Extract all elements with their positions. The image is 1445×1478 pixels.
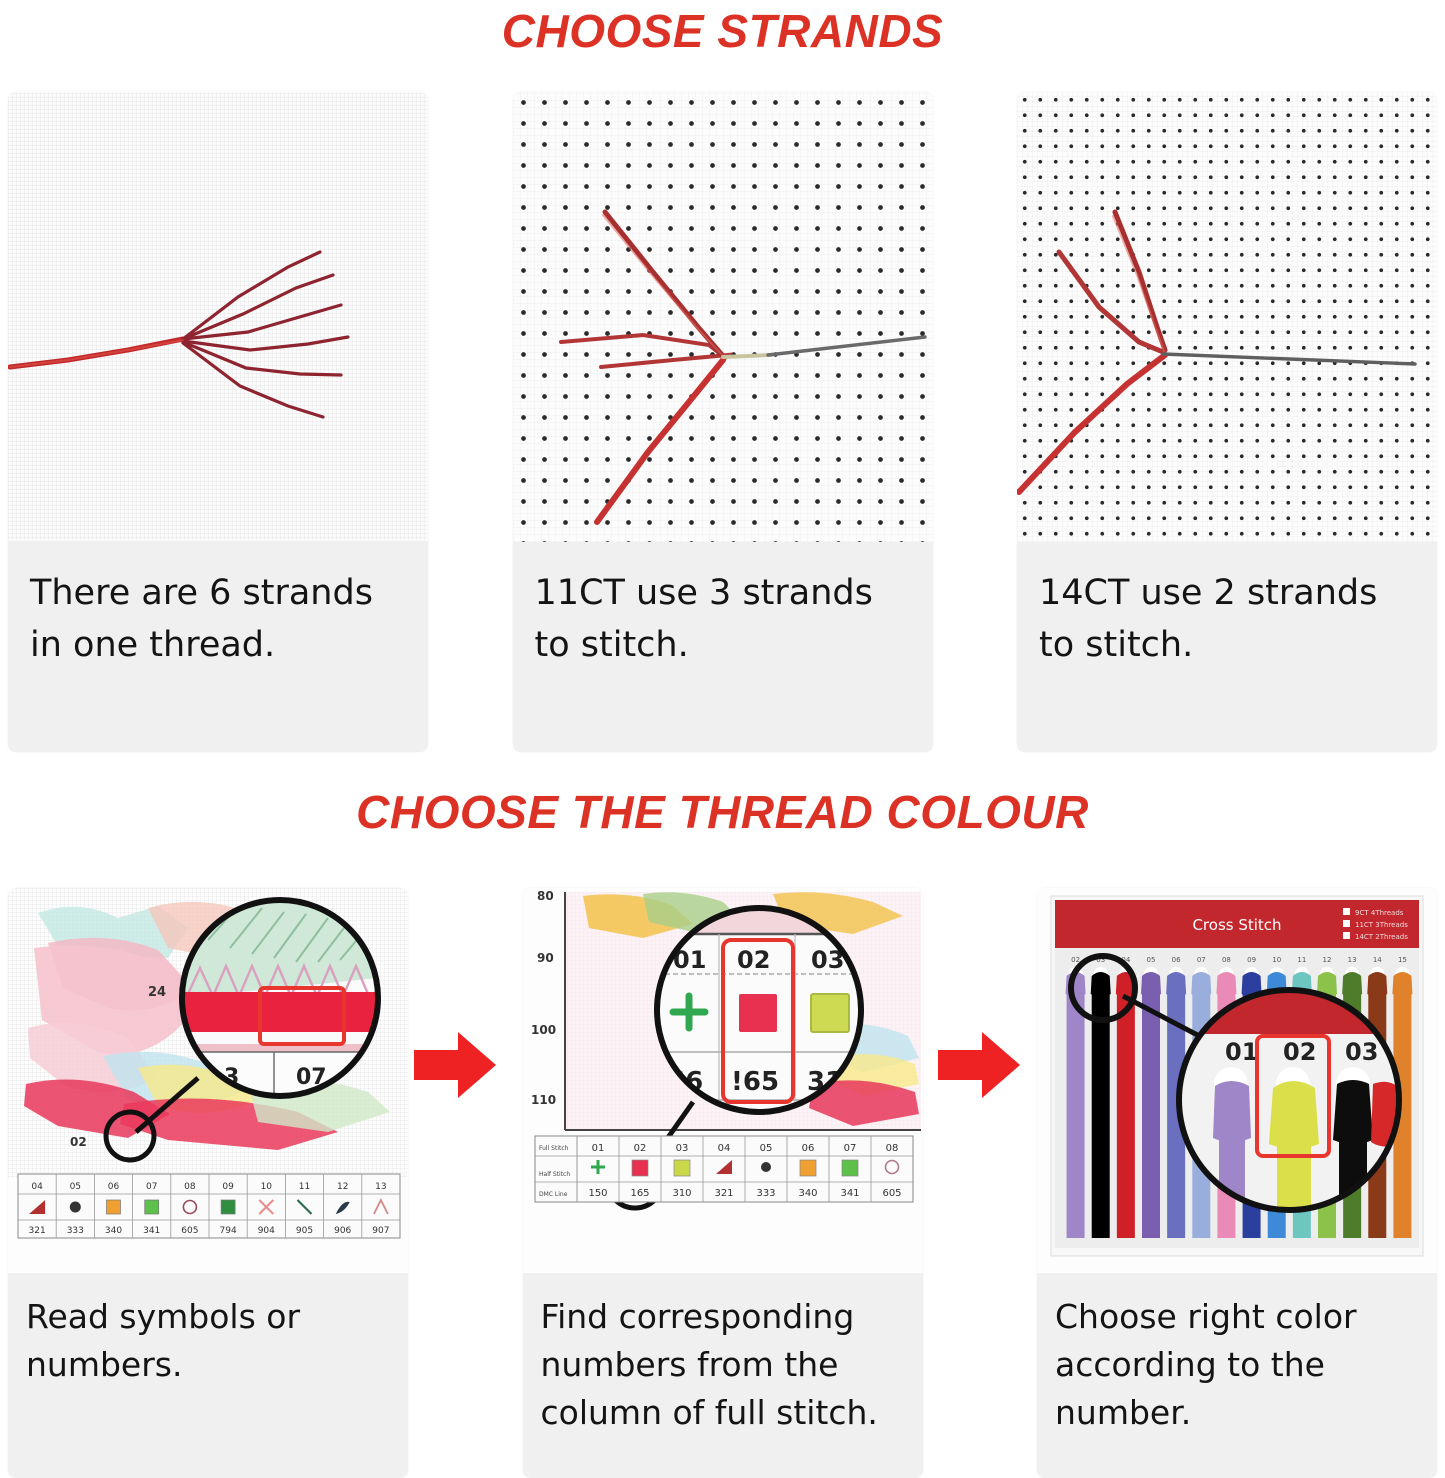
svg-text:Half Stitch: Half Stitch bbox=[539, 1171, 570, 1178]
svg-text:333: 333 bbox=[756, 1188, 775, 1199]
photo-11ct-aida bbox=[513, 92, 933, 542]
section-title-choose-thread-colour: CHOOSE THE THREAD COLOUR bbox=[0, 785, 1445, 839]
svg-text:13: 13 bbox=[1348, 956, 1357, 964]
photo-thread-six-strands bbox=[8, 92, 428, 542]
card-read-symbols: 24 02 bbox=[8, 888, 408, 1478]
caption-line: Choose right color bbox=[1055, 1293, 1419, 1341]
svg-text:06: 06 bbox=[108, 1182, 120, 1192]
svg-text:05: 05 bbox=[70, 1182, 81, 1192]
svg-text:05: 05 bbox=[1147, 956, 1156, 964]
svg-text:310: 310 bbox=[672, 1188, 691, 1199]
svg-text:02: 02 bbox=[737, 946, 770, 974]
svg-text:09: 09 bbox=[1247, 956, 1256, 964]
caption-line: to stitch. bbox=[1039, 620, 1415, 672]
svg-text:05: 05 bbox=[759, 1143, 772, 1154]
caption-line: according to the bbox=[1055, 1341, 1419, 1389]
svg-text:01: 01 bbox=[1225, 1038, 1258, 1066]
svg-text:DMC Line: DMC Line bbox=[539, 1191, 568, 1198]
svg-text:100: 100 bbox=[531, 1023, 556, 1037]
caption-line: There are 6 strands bbox=[30, 568, 406, 620]
full-stitch-column-illustration: 80 90 100 110 bbox=[523, 888, 923, 1273]
svg-text:333: 333 bbox=[67, 1226, 84, 1236]
needle-three-strands-illustration bbox=[513, 92, 933, 542]
svg-text:12: 12 bbox=[337, 1182, 348, 1192]
caption-six-strands: There are 6 strands in one thread. bbox=[8, 542, 428, 752]
svg-text:150: 150 bbox=[588, 1188, 607, 1199]
svg-text:09: 09 bbox=[222, 1182, 234, 1192]
svg-text:341: 341 bbox=[143, 1226, 160, 1236]
svg-text:04: 04 bbox=[31, 1182, 43, 1192]
photo-pattern-chart-column: 80 90 100 110 bbox=[523, 888, 923, 1273]
svg-text:08: 08 bbox=[1222, 956, 1231, 964]
caption-line: 14CT use 2 strands bbox=[1039, 568, 1415, 620]
thread-colour-cards-row: 24 02 bbox=[0, 888, 1445, 1478]
svg-text:08: 08 bbox=[885, 1143, 898, 1154]
pattern-chart-illustration: 24 02 bbox=[8, 888, 408, 1273]
svg-text:24: 24 bbox=[148, 985, 166, 1000]
svg-text:80: 80 bbox=[537, 889, 554, 903]
svg-text:11CT 3Threads: 11CT 3Threads bbox=[1355, 921, 1408, 929]
photo-thread-organizer-card: Cross Stitch 9CT 4Threads 11CT 3Threads … bbox=[1037, 888, 1437, 1273]
caption-line: in one thread. bbox=[30, 620, 406, 672]
svg-text:794: 794 bbox=[220, 1226, 237, 1236]
card-11ct: 11CT use 3 strands to stitch. bbox=[513, 92, 933, 752]
svg-text:04: 04 bbox=[717, 1143, 730, 1154]
svg-text:605: 605 bbox=[882, 1188, 901, 1199]
svg-text:07: 07 bbox=[1197, 956, 1206, 964]
svg-text:165: 165 bbox=[630, 1188, 649, 1199]
svg-text:14CT 2Threads: 14CT 2Threads bbox=[1355, 933, 1408, 941]
svg-text:321: 321 bbox=[714, 1188, 733, 1199]
svg-text:07: 07 bbox=[146, 1182, 157, 1192]
svg-text:15: 15 bbox=[1398, 956, 1407, 964]
svg-text:03: 03 bbox=[675, 1143, 688, 1154]
svg-text:01: 01 bbox=[591, 1143, 604, 1154]
six-strands-illustration bbox=[8, 92, 428, 542]
caption-line: Read symbols or bbox=[26, 1293, 390, 1341]
card-14ct: 14CT use 2 strands to stitch. bbox=[1017, 92, 1437, 752]
legend-table-2: 0115002165033100432105333063400734108605… bbox=[535, 1136, 913, 1202]
caption-14ct: 14CT use 2 strands to stitch. bbox=[1017, 542, 1437, 752]
thread-card-title-text: Cross Stitch bbox=[1192, 916, 1281, 934]
caption-11ct: 11CT use 3 strands to stitch. bbox=[513, 542, 933, 752]
svg-text:340: 340 bbox=[798, 1188, 817, 1199]
thread-card-illustration: Cross Stitch 9CT 4Threads 11CT 3Threads … bbox=[1037, 888, 1437, 1273]
caption-line: 11CT use 3 strands bbox=[535, 568, 911, 620]
svg-text:07: 07 bbox=[843, 1143, 856, 1154]
svg-text:341: 341 bbox=[840, 1188, 859, 1199]
caption-find-numbers: Find corresponding numbers from the colu… bbox=[523, 1273, 923, 1478]
card-find-numbers: 80 90 100 110 bbox=[523, 888, 923, 1478]
svg-text:13: 13 bbox=[375, 1182, 386, 1192]
needle-two-strands-illustration bbox=[1017, 92, 1437, 542]
arrow-right-icon-column-to-threads bbox=[938, 1028, 1022, 1102]
svg-text:12: 12 bbox=[1323, 956, 1332, 964]
svg-text:08: 08 bbox=[184, 1182, 196, 1192]
card-choose-color: Cross Stitch 9CT 4Threads 11CT 3Threads … bbox=[1037, 888, 1437, 1478]
caption-line: to stitch. bbox=[535, 620, 911, 672]
arrow-right-icon-chart-to-column bbox=[414, 1028, 498, 1102]
caption-line: numbers from the bbox=[541, 1341, 905, 1389]
caption-line: number. bbox=[1055, 1389, 1419, 1437]
svg-text:14: 14 bbox=[1373, 956, 1382, 964]
caption-line: Find corresponding bbox=[541, 1293, 905, 1341]
strand-cards-row: There are 6 strands in one thread. bbox=[0, 92, 1445, 752]
svg-text:10: 10 bbox=[261, 1182, 273, 1192]
infographic-page: CHOOSE STRANDS bbox=[0, 0, 1445, 1478]
svg-text:340: 340 bbox=[105, 1226, 122, 1236]
svg-text:905: 905 bbox=[296, 1226, 313, 1236]
svg-text:605: 605 bbox=[181, 1226, 198, 1236]
svg-text:02: 02 bbox=[1071, 956, 1080, 964]
svg-text:02: 02 bbox=[70, 1135, 87, 1149]
photo-14ct-aida bbox=[1017, 92, 1437, 542]
svg-text:906: 906 bbox=[334, 1226, 351, 1236]
svg-text:10: 10 bbox=[1272, 956, 1281, 964]
photo-pattern-chart-symbols: 24 02 bbox=[8, 888, 408, 1273]
svg-text:11: 11 bbox=[1297, 956, 1306, 964]
svg-text:02: 02 bbox=[633, 1143, 646, 1154]
svg-text:321: 321 bbox=[29, 1226, 46, 1236]
svg-text:06: 06 bbox=[801, 1143, 814, 1154]
svg-text:02: 02 bbox=[1283, 1038, 1316, 1066]
legend-table: 0432105333063400734108605097941090411905… bbox=[18, 1174, 400, 1238]
svg-text:907: 907 bbox=[372, 1226, 389, 1236]
svg-text:11: 11 bbox=[299, 1182, 310, 1192]
svg-text:9CT 4Threads: 9CT 4Threads bbox=[1355, 909, 1404, 917]
svg-text:!65: !65 bbox=[731, 1067, 779, 1097]
caption-line: numbers. bbox=[26, 1341, 390, 1389]
section-title-choose-strands: CHOOSE STRANDS bbox=[0, 4, 1445, 58]
svg-text:90: 90 bbox=[537, 951, 554, 965]
card-six-strands: There are 6 strands in one thread. bbox=[8, 92, 428, 752]
svg-text:Full Stitch: Full Stitch bbox=[539, 1145, 569, 1152]
svg-text:904: 904 bbox=[258, 1226, 275, 1236]
caption-line: column of full stitch. bbox=[541, 1389, 905, 1437]
svg-text:03: 03 bbox=[1345, 1038, 1378, 1066]
svg-text:110: 110 bbox=[531, 1093, 556, 1107]
svg-text:06: 06 bbox=[1172, 956, 1181, 964]
caption-choose-color: Choose right color according to the numb… bbox=[1037, 1273, 1437, 1478]
caption-read-symbols: Read symbols or numbers. bbox=[8, 1273, 408, 1478]
